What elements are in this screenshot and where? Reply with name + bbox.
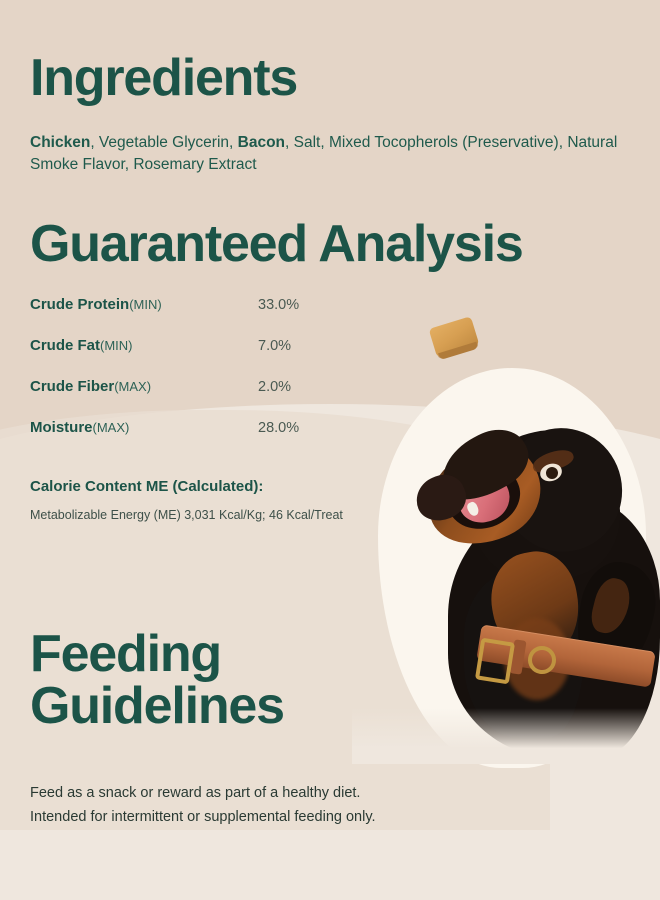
feeding-heading-line-1: Feeding	[30, 628, 330, 680]
ingredients-mid-text: , Vegetable Glycerin,	[90, 134, 237, 151]
analysis-nutrient-label: Crude Fat(MIN)	[30, 337, 133, 354]
analysis-row: Crude Protein(MIN) 33.0%	[30, 296, 330, 337]
feeding-line-1: Feed as a snack or reward as part of a h…	[30, 782, 450, 806]
analysis-nutrient-name: Crude Fiber	[30, 378, 114, 395]
analysis-qualifier: (MIN)	[129, 297, 162, 312]
analysis-qualifier: (MAX)	[114, 379, 151, 394]
analysis-nutrient-name: Crude Fat	[30, 337, 100, 354]
label-content: Ingredients Chicken, Vegetable Glycerin,…	[0, 0, 660, 900]
analysis-value: 7.0%	[258, 338, 291, 354]
feeding-heading-line-2: Guidelines	[30, 680, 330, 732]
guaranteed-analysis-table: Crude Protein(MIN) 33.0% Crude Fat(MIN) …	[30, 296, 330, 460]
analysis-nutrient-label: Crude Fiber(MAX)	[30, 378, 151, 395]
analysis-row: Moisture(MAX) 28.0%	[30, 419, 330, 460]
analysis-qualifier: (MIN)	[100, 338, 133, 353]
analysis-row: Crude Fiber(MAX) 2.0%	[30, 378, 330, 419]
calorie-content-heading: Calorie Content ME (Calculated):	[30, 478, 263, 495]
ingredient-bacon: Bacon	[238, 134, 285, 151]
ingredients-heading: Ingredients	[30, 52, 297, 104]
analysis-nutrient-name: Crude Protein	[30, 296, 129, 313]
feeding-line-2: Intended for intermittent or supplementa…	[30, 806, 450, 830]
analysis-nutrient-label: Moisture(MAX)	[30, 419, 129, 436]
analysis-row: Crude Fat(MIN) 7.0%	[30, 337, 330, 378]
ingredient-chicken: Chicken	[30, 134, 90, 151]
analysis-value: 2.0%	[258, 379, 291, 395]
analysis-value: 33.0%	[258, 297, 299, 313]
analysis-nutrient-label: Crude Protein(MIN)	[30, 296, 162, 313]
feeding-guidelines-text: Feed as a snack or reward as part of a h…	[30, 782, 450, 830]
feeding-guidelines-heading: Feeding Guidelines	[30, 628, 330, 732]
analysis-nutrient-name: Moisture	[30, 419, 93, 436]
analysis-value: 28.0%	[258, 420, 299, 436]
ingredients-list: Chicken, Vegetable Glycerin, Bacon, Salt…	[30, 132, 620, 177]
ingredients-tail-text: , Salt, Mixed Tocopherols (Preservative)…	[285, 134, 563, 151]
calorie-content-detail: Metabolizable Energy (ME) 3,031 Kcal/Kg;…	[30, 508, 343, 522]
product-label-page: Ingredients Chicken, Vegetable Glycerin,…	[0, 0, 660, 900]
analysis-qualifier: (MAX)	[93, 420, 130, 435]
guaranteed-analysis-heading: Guaranteed Analysis	[30, 218, 523, 270]
